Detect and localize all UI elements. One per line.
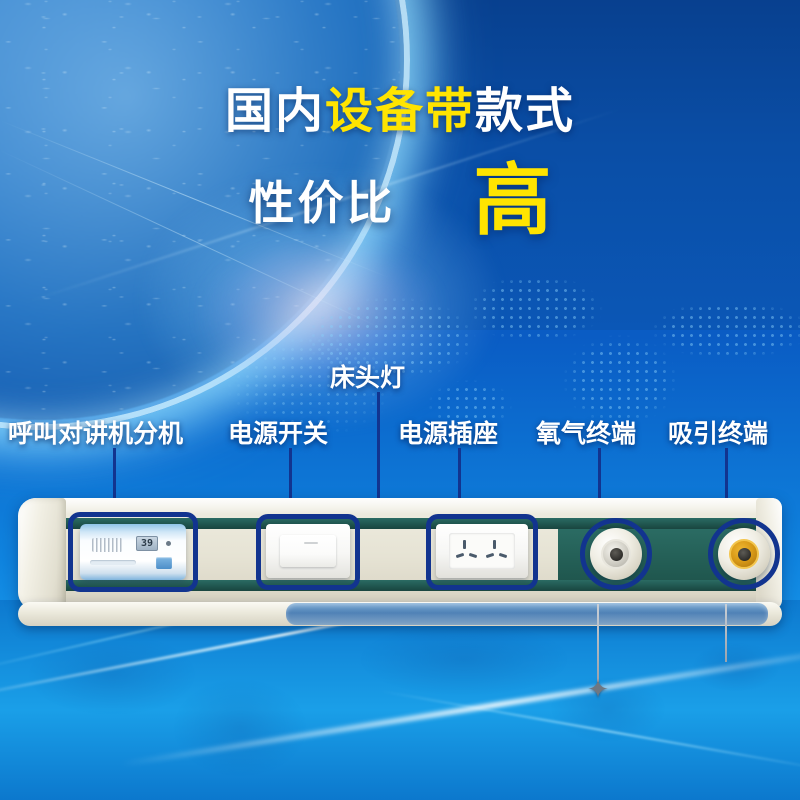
- world-map-silhouette: [0, 610, 800, 800]
- power-switch-plate[interactable]: [266, 524, 350, 578]
- suction-terminal-port-icon: [738, 548, 751, 561]
- headline-part2: 款式: [475, 85, 575, 138]
- intercom-call-button[interactable]: [156, 557, 172, 569]
- unit-body: 39: [18, 498, 782, 610]
- oxygen-terminal-core: [601, 539, 631, 569]
- power-socket-plate[interactable]: [436, 524, 528, 578]
- speaker-grille-icon: [92, 538, 122, 552]
- indicator-led-icon: [166, 541, 171, 546]
- intercom-display: 39: [136, 536, 158, 551]
- product-poster: 国内设备带款式 性价比高 呼叫对讲机分机 电源开关 床头灯 电源插座 氧气终端 …: [0, 0, 800, 800]
- subheadline-emphasis: 高: [473, 165, 551, 235]
- unit-stripe-bottom: [64, 580, 782, 591]
- intercom-slot: [90, 560, 136, 565]
- callout-label-lamp: 床头灯: [330, 358, 405, 394]
- unit-rail-tinted-cover: [286, 603, 768, 625]
- power-switch-rocker[interactable]: [280, 535, 336, 567]
- callout-label-suction: 吸引终端: [668, 414, 768, 450]
- socket-pin-icon: [456, 553, 465, 558]
- oxygen-terminal-port-icon: [610, 548, 623, 561]
- socket-pin-icon: [499, 553, 508, 558]
- oxygen-hose-cord: [597, 604, 599, 682]
- subheadline-text: 性价比: [248, 167, 395, 233]
- suction-hose-cord: [725, 604, 727, 662]
- headline-accent: 设备带: [325, 85, 475, 138]
- nurse-call-intercom[interactable]: 39: [80, 524, 186, 580]
- switch-tick-icon: [304, 542, 318, 544]
- unit-top-highlight: [18, 498, 782, 514]
- callout-label-oxygen: 氧气终端: [536, 414, 636, 450]
- suction-terminal-core: [729, 539, 759, 569]
- callout-label-socket: 电源插座: [398, 414, 498, 450]
- hose-connector-icon: ✦: [585, 676, 611, 702]
- oxygen-terminal[interactable]: [590, 528, 642, 580]
- headline-part1: 国内: [225, 85, 325, 138]
- subheadline: 性价比高: [0, 165, 800, 235]
- socket-pin-icon: [486, 553, 495, 558]
- socket-pin-icon: [469, 553, 478, 558]
- suction-terminal[interactable]: [718, 528, 770, 580]
- power-socket-face[interactable]: [449, 533, 515, 569]
- unit-end-cap-left: [18, 498, 66, 610]
- socket-pin-icon: [493, 540, 496, 549]
- headline: 国内设备带款式: [0, 88, 800, 136]
- socket-pin-icon: [463, 540, 466, 549]
- callout-label-switch: 电源开关: [228, 414, 328, 450]
- callout-label-intercom: 呼叫对讲机分机: [8, 414, 183, 450]
